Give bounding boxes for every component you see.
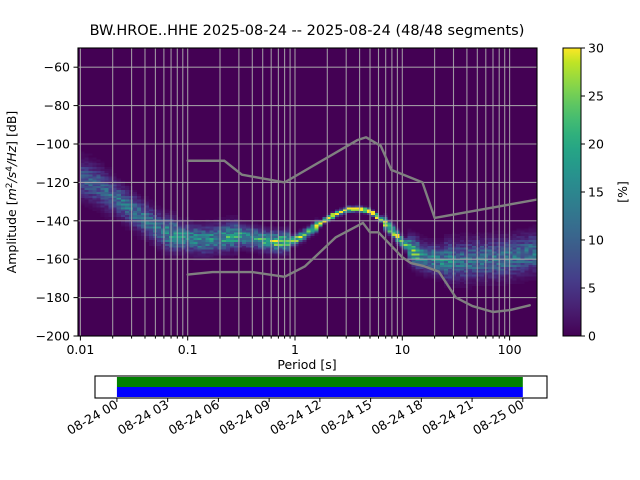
colorbar-tick-label: 5 xyxy=(588,281,596,296)
colorbar-label: [%] xyxy=(615,181,630,203)
y-tick-label: −100 xyxy=(36,137,70,152)
x-tick-label: 0.01 xyxy=(66,342,94,357)
colorbar-tick-label: 25 xyxy=(588,89,604,104)
y-tick-label: −200 xyxy=(36,329,70,344)
x-tick-label: 10 xyxy=(394,342,410,357)
coverage-band-data-available xyxy=(117,377,523,387)
ppsd-figure: BW.HROE..HHE 2025-08-24 -- 2025-08-24 (4… xyxy=(0,0,640,480)
y-tick-label: −180 xyxy=(36,290,70,305)
x-tick-label: 100 xyxy=(498,342,522,357)
y-tick-label: −120 xyxy=(36,175,70,190)
y-axis-label-group: Amplitude [m2/s4/Hz] [dB] xyxy=(4,111,19,274)
y-axis-label: Amplitude [m2/s4/Hz] [dB] xyxy=(4,111,19,274)
y-tick-label: −80 xyxy=(44,98,70,113)
figure-canvas: BW.HROE..HHE 2025-08-24 -- 2025-08-24 (4… xyxy=(0,0,640,480)
plot-title: BW.HROE..HHE 2025-08-24 -- 2025-08-24 (4… xyxy=(90,23,525,39)
colorbar-tick-label: 20 xyxy=(588,137,604,152)
colorbar-tick-label: 30 xyxy=(588,41,604,56)
colorbar-tick-label: 15 xyxy=(588,185,604,200)
colorbar-tick-label: 10 xyxy=(588,233,604,248)
y-tick-label: −140 xyxy=(36,213,70,228)
x-axis-label: Period [s] xyxy=(277,357,336,372)
colorbar-tick-label: 0 xyxy=(588,329,596,344)
y-tick-label: −160 xyxy=(36,252,70,267)
main-axes: 0.010.1110100 −200−180−160−140−120−100−8… xyxy=(36,48,569,357)
x-tick-label: 1 xyxy=(291,342,299,357)
y-tick-label: −60 xyxy=(44,60,70,75)
colorbar-gradient xyxy=(563,48,581,336)
coverage-band-psd-segments xyxy=(117,387,523,397)
x-tick-label: 0.1 xyxy=(178,342,198,357)
axes-background xyxy=(78,48,537,336)
